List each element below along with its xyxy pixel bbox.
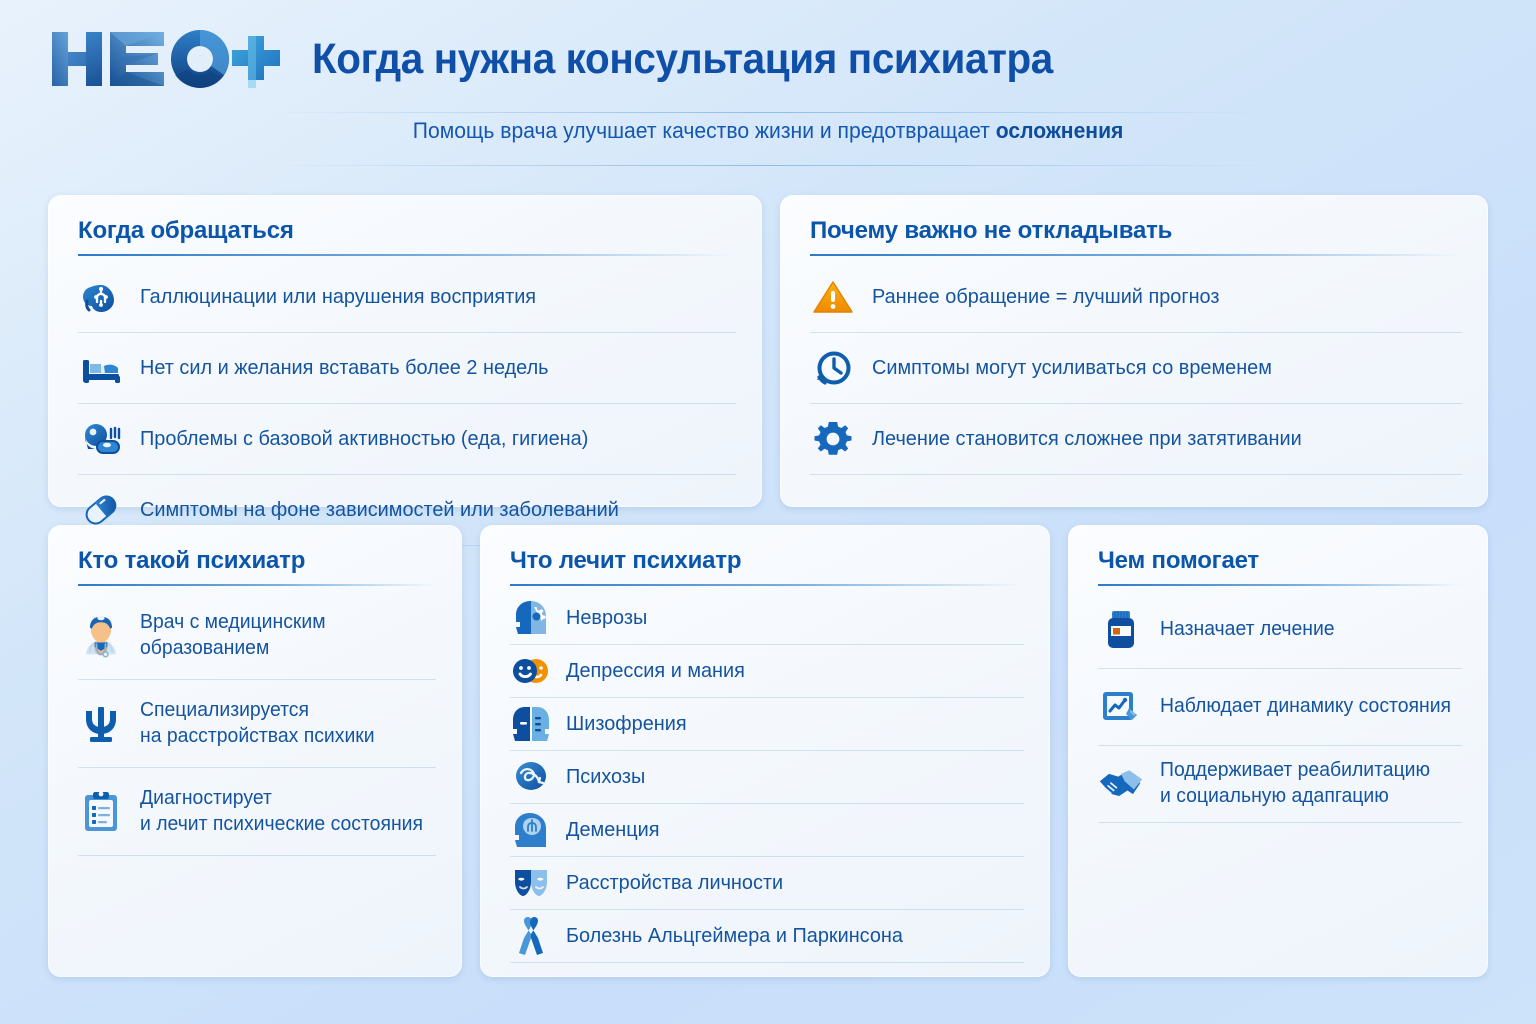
list-item: Галлюцинации или нарушения восприятия bbox=[78, 262, 736, 333]
list-item: Поддерживает реабилитацию и социальную а… bbox=[1098, 746, 1462, 823]
gear-icon bbox=[810, 416, 856, 462]
card-items: Неврозы Депрессия и мания bbox=[510, 592, 1024, 963]
neo-plus-logo-icon bbox=[48, 28, 286, 90]
list-item: Назначает лечение bbox=[1098, 592, 1462, 669]
list-item-line1: Специализируется bbox=[140, 699, 309, 721]
list-item: Диагностирует и лечит психические состоя… bbox=[78, 768, 436, 856]
list-item-line2: и лечит психические состояния bbox=[140, 813, 423, 835]
card-title: Когда обращаться bbox=[78, 217, 736, 254]
list-item: Деменция bbox=[510, 804, 1024, 857]
list-item-line1: Наблюдает динамику состояния bbox=[1160, 695, 1451, 717]
card-who-is-psychiatrist: Кто такой психиатр bbox=[48, 525, 462, 977]
chart-monitor-icon bbox=[1098, 684, 1144, 730]
list-item-label: Врач с медицинским образованием bbox=[140, 610, 326, 661]
header-divider-top bbox=[260, 112, 1276, 113]
card-why-not-delay: Почему важно не откладывать Раннее обращ… bbox=[780, 195, 1488, 507]
page-subtitle: Помощь врача улучшает качество жизни и п… bbox=[413, 118, 1124, 144]
list-item-label: Симптомы могут усиливаться со временем bbox=[872, 355, 1272, 381]
list-item: Нет сил и желания вставать более 2 недел… bbox=[78, 333, 736, 404]
list-item-label: Болезнь Альцгеймера и Паркинсона bbox=[566, 923, 903, 949]
list-item-label: Специализируется на расстройствах психик… bbox=[140, 698, 375, 749]
list-item: Врач с медицинским образованием bbox=[78, 592, 436, 680]
list-item-label: Лечение становится сложнее при затятиван… bbox=[872, 426, 1302, 452]
card-title-underline bbox=[78, 254, 736, 256]
card-title: Чем помогает bbox=[1098, 547, 1462, 584]
list-item: Симптомы могут усиливаться со временем bbox=[810, 333, 1462, 404]
list-item-label: Расстройства личности bbox=[566, 870, 783, 896]
list-item-line1: Врач с медицинским bbox=[140, 611, 326, 633]
list-item-label: Шизофрения bbox=[566, 711, 687, 737]
card-what-psychiatrist-treats: Что лечит психиатр Неврозы bbox=[480, 525, 1050, 977]
list-item: Проблемы с базовой активностью (еда, гиг… bbox=[78, 404, 736, 475]
card-how-it-helps: Чем помогает Назначает лечение bbox=[1068, 525, 1488, 977]
card-items: Галлюцинации или нарушения восприятия Не… bbox=[78, 262, 736, 546]
list-item: Болезнь Альцгеймера и Паркинсона bbox=[510, 910, 1024, 963]
awareness-ribbon-icon bbox=[510, 915, 552, 957]
card-title-underline bbox=[78, 584, 436, 586]
meal-hygiene-icon bbox=[78, 416, 124, 462]
list-item: Шизофрения bbox=[510, 698, 1024, 751]
handshake-icon bbox=[1098, 761, 1144, 807]
two-faces-icon bbox=[510, 650, 552, 692]
list-item-line1: Поддерживает реабилитацию bbox=[1160, 759, 1430, 781]
head-gear-icon bbox=[510, 597, 552, 639]
list-item: Неврозы bbox=[510, 592, 1024, 645]
page-title: Когда нужна консультация психиатра bbox=[312, 35, 1053, 84]
psi-symbol-icon bbox=[78, 701, 124, 747]
list-item-line2: на расстройствах психики bbox=[140, 725, 375, 747]
list-item: Раннее обращение = лучший прогноз bbox=[810, 262, 1462, 333]
card-items: Назначает лечение Наблюдает динамику со bbox=[1098, 592, 1462, 823]
head-brain-icon bbox=[510, 809, 552, 851]
card-when-to-seek-help: Когда обращаться bbox=[48, 195, 762, 507]
brain-icon bbox=[78, 274, 124, 320]
header: Когда нужна консультация психиатра Помощ… bbox=[0, 0, 1536, 178]
subtitle-wrap: Помощь врача улучшает качество жизни и п… bbox=[0, 118, 1536, 144]
list-item: Наблюдает динамику состояния bbox=[1098, 669, 1462, 746]
list-item-label: Галлюцинации или нарушения восприятия bbox=[140, 284, 536, 310]
list-item-label: Наблюдает динамику состояния bbox=[1160, 694, 1451, 720]
brand-row: Когда нужна консультация психиатра bbox=[48, 28, 1100, 90]
list-item-label: Поддерживает реабилитацию и социальную а… bbox=[1160, 758, 1430, 809]
card-items: Раннее обращение = лучший прогноз Симпто… bbox=[810, 262, 1462, 475]
list-item-label: Психозы bbox=[566, 764, 645, 790]
card-title: Кто такой психиатр bbox=[78, 547, 436, 584]
subtitle-bold: осложнения bbox=[996, 118, 1124, 143]
list-item-label: Неврозы bbox=[566, 605, 647, 631]
list-item-label: Диагностирует и лечит психические состоя… bbox=[140, 786, 423, 837]
card-title-underline bbox=[810, 254, 1462, 256]
card-title-underline bbox=[510, 584, 1024, 586]
list-item-label: Симптомы на фоне зависимостей или заболе… bbox=[140, 497, 619, 523]
infographic-page: Когда нужна консультация психиатра Помощ… bbox=[0, 0, 1536, 1024]
medicine-bottle-icon bbox=[1098, 607, 1144, 653]
list-item-line1: Назначает лечение bbox=[1160, 618, 1335, 640]
list-item-label: Депрессия и мания bbox=[566, 658, 745, 684]
list-item: Расстройства личности bbox=[510, 857, 1024, 910]
warning-triangle-icon bbox=[810, 274, 856, 320]
card-items: Врач с медицинским образованием Спец bbox=[78, 592, 436, 856]
card-title: Почему важно не откладывать bbox=[810, 217, 1462, 254]
header-divider-bottom bbox=[260, 165, 1276, 166]
split-head-icon bbox=[510, 703, 552, 745]
list-item-label: Раннее обращение = лучший прогноз bbox=[872, 284, 1220, 310]
doctor-icon bbox=[78, 613, 124, 659]
list-item-line2: и социальную адапгацию bbox=[1160, 785, 1389, 807]
tangled-mind-icon bbox=[510, 756, 552, 798]
list-item-line2: образованием bbox=[140, 637, 269, 659]
list-item: Депрессия и мания bbox=[510, 645, 1024, 698]
clipboard-icon bbox=[78, 789, 124, 835]
bed-icon bbox=[78, 345, 124, 391]
list-item: Специализируется на расстройствах психик… bbox=[78, 680, 436, 768]
clock-icon bbox=[810, 345, 856, 391]
list-item: Лечение становится сложнее при затятиван… bbox=[810, 404, 1462, 475]
list-item-label: Проблемы с базовой активностью (еда, гиг… bbox=[140, 426, 588, 452]
subtitle-plain: Помощь врача улучшает качество жизни и п… bbox=[413, 118, 996, 143]
card-title-underline bbox=[1098, 584, 1462, 586]
card-title: Что лечит психиатр bbox=[510, 547, 1024, 584]
list-item-label: Назначает лечение bbox=[1160, 617, 1335, 643]
theater-masks-icon bbox=[510, 862, 552, 904]
list-item-label: Деменция bbox=[566, 817, 660, 843]
list-item-line1: Диагностирует bbox=[140, 787, 272, 809]
list-item: Психозы bbox=[510, 751, 1024, 804]
list-item-label: Нет сил и желания вставать более 2 недел… bbox=[140, 355, 549, 381]
